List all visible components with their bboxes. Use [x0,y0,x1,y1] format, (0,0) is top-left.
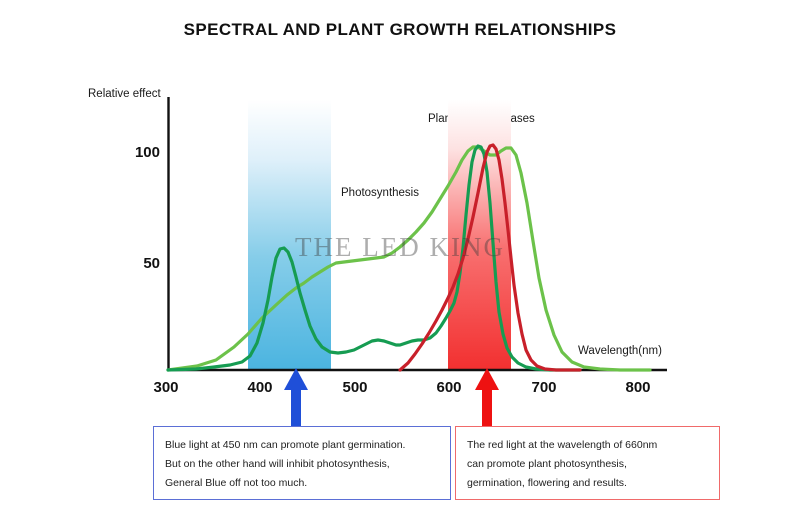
red-light-callout: The red light at the wavelength of 660nm… [455,426,720,500]
blue-callout-line-1: Blue light at 450 nm can promote plant g… [165,436,439,455]
blue-arrow [284,368,308,426]
blue-light-callout: Blue light at 450 nm can promote plant g… [153,426,451,500]
red-callout-line-3: germination, flowering and results. [467,474,708,493]
curve-photosynthesis [168,147,650,370]
red-arrow [475,368,499,426]
blue-callout-line-2: But on the other hand will inhibit photo… [165,455,439,474]
red-callout-line-2: can promote plant photosynthesis, [467,455,708,474]
red-callout-line-1: The red light at the wavelength of 660nm [467,436,708,455]
blue-callout-line-3: General Blue off not too much. [165,474,439,493]
spectral-chart-figure: SPECTRAL AND PLANT GROWTH RELATIONSHIPS … [0,0,800,517]
